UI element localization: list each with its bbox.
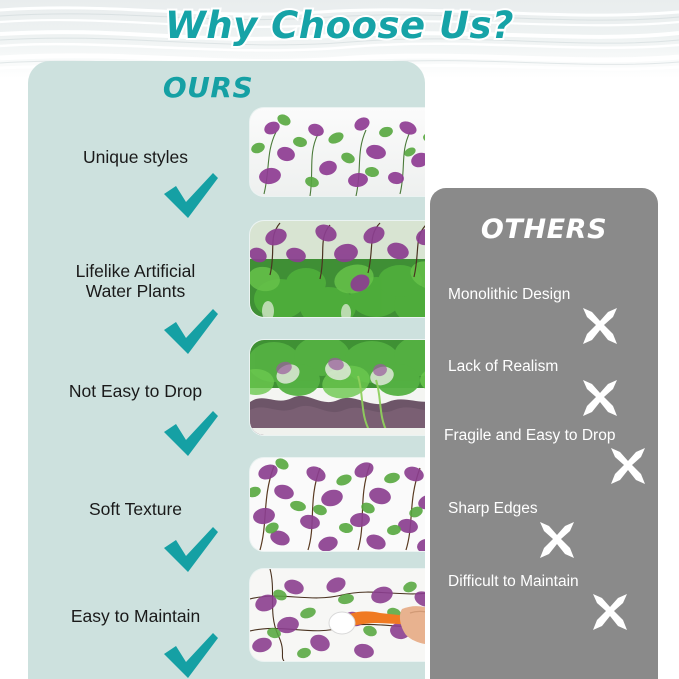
plants-photo-1-icon bbox=[250, 108, 425, 196]
ours-item-image bbox=[250, 221, 425, 317]
plants-photo-4-icon bbox=[250, 458, 425, 551]
others-item-label: Lack of Realism bbox=[448, 358, 558, 376]
x-icon bbox=[580, 378, 620, 418]
others-heading: OTHERS bbox=[430, 214, 658, 245]
plants-photo-2-icon bbox=[250, 221, 425, 317]
page-title: Why Choose Us? bbox=[0, 4, 679, 47]
ours-item-label: Lifelike Artificial Water Plants bbox=[38, 261, 233, 301]
x-icon bbox=[537, 520, 577, 560]
x-icon-glyph bbox=[580, 306, 620, 346]
ours-item-label: Not Easy to Drop bbox=[38, 381, 233, 401]
check-icon-glyph bbox=[163, 173, 219, 219]
ours-item-image bbox=[250, 108, 425, 196]
check-icon bbox=[163, 633, 219, 679]
check-icon bbox=[163, 309, 219, 355]
others-item-label: Sharp Edges bbox=[448, 500, 538, 518]
others-item-label: Difficult to Maintain bbox=[448, 573, 579, 591]
check-icon bbox=[163, 173, 219, 219]
ours-item-label-line2: Water Plants bbox=[38, 281, 233, 301]
plants-cleaning-photo-icon bbox=[250, 569, 425, 661]
others-item-label: Fragile and Easy to Drop bbox=[444, 427, 615, 445]
check-icon-glyph bbox=[163, 411, 219, 457]
x-icon bbox=[590, 592, 630, 632]
check-icon bbox=[163, 527, 219, 573]
others-item-label: Monolithic Design bbox=[448, 286, 570, 304]
ours-item-image bbox=[250, 569, 425, 661]
others-panel: OTHERS Monolithic Design Lack of Realism… bbox=[430, 188, 658, 679]
check-icon-glyph bbox=[163, 527, 219, 573]
plants-photo-3-icon bbox=[250, 340, 425, 435]
x-icon bbox=[608, 446, 648, 486]
x-icon-glyph bbox=[590, 592, 630, 632]
ours-heading: OURS bbox=[28, 71, 388, 104]
ours-item-image bbox=[250, 458, 425, 551]
x-icon bbox=[580, 306, 620, 346]
ours-item-image bbox=[250, 340, 425, 435]
comparison-infographic: Why Choose Us? OURS Unique styles bbox=[0, 0, 679, 679]
ours-item-label: Soft Texture bbox=[38, 499, 233, 519]
check-icon-glyph bbox=[163, 309, 219, 355]
ours-item-label-line1: Lifelike Artificial bbox=[38, 261, 233, 281]
ours-item-label: Unique styles bbox=[38, 147, 233, 167]
x-icon-glyph bbox=[608, 446, 648, 486]
ours-panel: OURS Unique styles bbox=[28, 61, 425, 679]
x-icon-glyph bbox=[537, 520, 577, 560]
ours-item-label: Easy to Maintain bbox=[38, 606, 233, 626]
x-icon-glyph bbox=[580, 378, 620, 418]
check-icon bbox=[163, 411, 219, 457]
check-icon-glyph bbox=[163, 633, 219, 679]
